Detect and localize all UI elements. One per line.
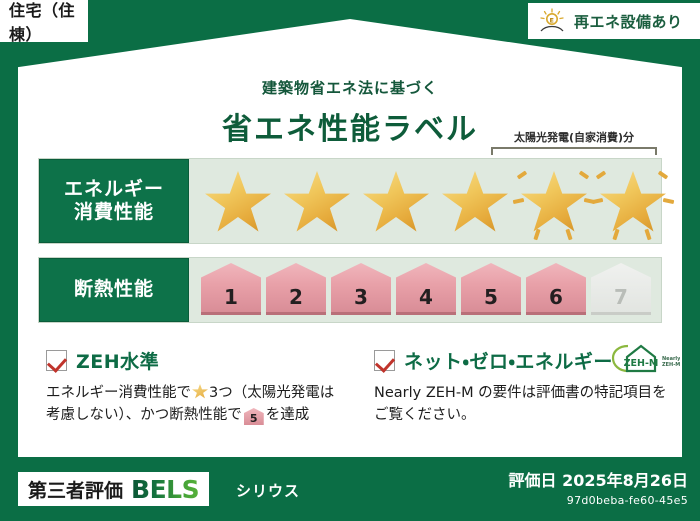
star-shape xyxy=(363,171,429,234)
insulation-performance-row: 断熱性能 1234567 xyxy=(38,257,662,323)
insulation-level-6: 6 xyxy=(526,263,586,315)
solar-ray-icon xyxy=(513,198,525,204)
svg-text:E: E xyxy=(550,16,555,24)
title-subtitle: 建築物省エネ法に基づく xyxy=(18,77,682,98)
insulation-level-4: 4 xyxy=(396,263,456,315)
insulation-level-scale: 1234567 xyxy=(201,263,651,315)
criterion-net-zero-energy: ネット・ゼロ・エネルギー ZEH-M Nearly ZEH-M Nearly Z… xyxy=(374,347,674,426)
insulation-level-number: 7 xyxy=(614,285,628,309)
solar-ray-icon xyxy=(579,170,589,179)
zeh-m-logo-text: ZEH-M xyxy=(624,358,659,369)
criterion-zeh-title: ZEH水準 xyxy=(76,347,159,374)
insulation-level-number: 2 xyxy=(289,285,303,309)
solar-ray-icon xyxy=(517,170,527,179)
document-id: 97d0beba-fe60-45e5 xyxy=(508,494,688,507)
energy-tag-line2: 消費性能 xyxy=(74,201,154,224)
label-card: 建築物省エネ法に基づく 省エネ性能ラベル エネルギー 消費性能 太陽光発電(自家… xyxy=(18,19,682,457)
solar-ray-icon xyxy=(565,229,572,241)
check-icon xyxy=(374,350,395,371)
criterion-nze-title: ネット・ゼロ・エネルギー xyxy=(404,347,613,374)
insulation-level-1: 1 xyxy=(201,263,261,315)
zeh-body-part1: エネルギー消費性能で xyxy=(46,385,191,401)
energy-performance-label: 建築物省エネ法に基づく 省エネ性能ラベル エネルギー 消費性能 太陽光発電(自家… xyxy=(0,0,700,521)
insulation-level-number: 6 xyxy=(549,285,563,309)
solar-annotation-label: 太陽光発電(自家消費)分 xyxy=(491,129,657,145)
evaluation-meta: 評価日 2025年8月26日 97d0beba-fe60-45e5 xyxy=(508,467,688,507)
star-shape xyxy=(442,171,508,234)
star-shape xyxy=(521,171,587,234)
insulation-level-number: 1 xyxy=(224,285,238,309)
insulation-level-5: 5 xyxy=(461,263,521,315)
star-icon xyxy=(436,163,514,241)
insulation-badge-icon: 5 xyxy=(244,408,264,425)
solar-ray-icon xyxy=(644,229,651,241)
solar-bracket xyxy=(491,147,657,155)
insulation-level-number: 5 xyxy=(484,285,498,309)
star-shape xyxy=(284,171,350,234)
insulation-level-number: 4 xyxy=(419,285,433,309)
solar-ray-icon xyxy=(658,170,668,179)
star-icon xyxy=(594,163,672,241)
star-shape xyxy=(205,171,271,234)
insulation-level-3: 3 xyxy=(331,263,391,315)
renewable-equipment-label: 再エネ設備あり xyxy=(574,11,683,32)
criterion-zeh-body: エネルギー消費性能で3つ（太陽光発電は考慮しない）、かつ断熱性能で5を達成 xyxy=(46,382,346,426)
third-party-label: 第三者評価 xyxy=(28,476,123,503)
evaluation-date: 評価日 2025年8月26日 xyxy=(508,467,688,491)
star-icon xyxy=(192,384,208,399)
energy-tag-line1: エネルギー xyxy=(64,178,164,201)
zeh-body-stars: 3つ（太陽光発電 xyxy=(209,385,320,401)
insulation-level-7: 7 xyxy=(591,263,651,315)
energy-stars-area: 太陽光発電(自家消費)分 xyxy=(189,159,661,243)
star-rating xyxy=(199,163,672,241)
insulation-level-number: 3 xyxy=(354,285,368,309)
star-icon xyxy=(199,163,277,241)
solar-ray-icon xyxy=(663,198,675,204)
zeh-body-part3: を達成 xyxy=(266,407,310,423)
criterion-zeh-standard: ZEH水準 エネルギー消費性能で3つ（太陽光発電は考慮しない）、かつ断熱性能で5… xyxy=(46,347,346,426)
sun-renewable-icon: E xyxy=(538,8,566,34)
energy-performance-tag: エネルギー 消費性能 xyxy=(39,159,189,243)
evaluation-date-label: 評価日 xyxy=(508,471,556,490)
third-party-evaluation-chip: 第三者評価 BELS xyxy=(18,472,209,506)
renewable-equipment-chip: E 再エネ設備あり xyxy=(528,3,700,39)
housing-type-chip: 住宅（住棟） xyxy=(0,0,88,42)
star-icon xyxy=(278,163,356,241)
insulation-performance-tag: 断熱性能 xyxy=(39,258,189,322)
brand-label: シリウス xyxy=(236,480,300,501)
star-shape xyxy=(600,171,666,234)
star-icon xyxy=(515,163,593,241)
insulation-tag-line1: 断熱性能 xyxy=(74,278,154,301)
zeh-m-logo-sub2: ZEH-M xyxy=(662,362,680,368)
criterion-nze-header: ネット・ゼロ・エネルギー ZEH-M Nearly ZEH-M xyxy=(374,347,674,374)
solar-ray-icon xyxy=(592,198,604,204)
star-icon xyxy=(357,163,435,241)
insulation-level-2: 2 xyxy=(266,263,326,315)
insulation-levels-area: 1234567 xyxy=(189,258,661,322)
solar-annotation: 太陽光発電(自家消費)分 xyxy=(491,129,657,155)
bels-logo-text: BELS xyxy=(131,475,199,504)
solar-ray-icon xyxy=(596,170,606,179)
housing-type-label: 住宅（住棟） xyxy=(9,0,88,45)
criterion-zeh-header: ZEH水準 xyxy=(46,347,346,374)
evaluation-date-value: 2025年8月26日 xyxy=(562,471,688,490)
zeh-m-logo-icon: ZEH-M Nearly ZEH-M xyxy=(606,341,680,374)
check-icon xyxy=(46,350,67,371)
criterion-nze-body: Nearly ZEH-M の要件は評価書の特記項目をご覧ください。 xyxy=(374,382,674,426)
energy-performance-row: エネルギー 消費性能 太陽光発電(自家消費)分 xyxy=(38,158,662,244)
